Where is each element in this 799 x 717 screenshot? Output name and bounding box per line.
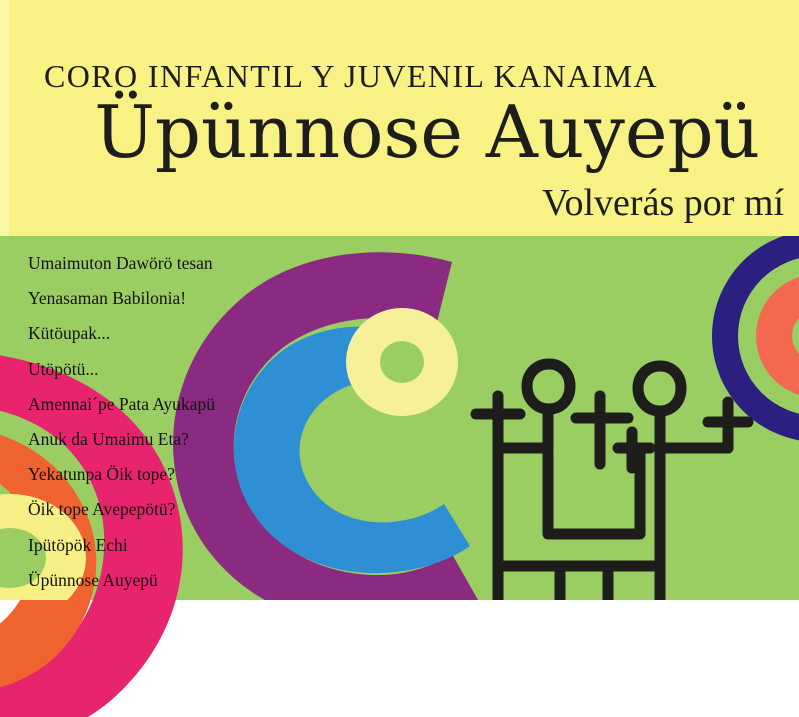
track-item: Üpünnose Auyepü — [28, 563, 328, 598]
track-item: Yekatunpa Öik tope? — [28, 457, 328, 492]
artwork-shapes-white — [0, 600, 799, 717]
header-panel: CORO INFANTIL Y JUVENIL KANAIMA Üpünnose… — [0, 0, 799, 236]
track-item: Umaimuton Dawörö tesan — [28, 246, 328, 281]
navy-ring — [712, 236, 799, 442]
track-item: Utöpötü... — [28, 352, 328, 387]
orange-spiral-continuation — [0, 600, 96, 695]
track-item: Anuk da Umaimu Eta? — [28, 422, 328, 457]
album-title: Üpünnose Auyepü — [0, 96, 760, 168]
lower-panel: Banesco CONTIGO — [0, 600, 799, 717]
track-list: Umaimuton Dawörö tesan Yenasaman Babilon… — [28, 246, 328, 598]
track-item: Amennai´pe Pata Ayukapü — [28, 387, 328, 422]
track-item: Ipütöpök Echi — [28, 528, 328, 563]
track-item: Yenasaman Babilonia! — [28, 281, 328, 316]
petroglyph-figures — [476, 364, 748, 600]
album-cover: CORO INFANTIL Y JUVENIL KANAIMA Üpünnose… — [0, 0, 799, 717]
track-item: Kütöupak... — [28, 316, 328, 351]
track-item: Öik tope Avepepötü? — [28, 492, 328, 527]
orange-ring-right — [756, 274, 799, 398]
pink-spiral-continuation — [0, 600, 183, 717]
album-subtitle: Volverás por mí — [0, 184, 784, 222]
yellow-ring — [346, 308, 458, 416]
